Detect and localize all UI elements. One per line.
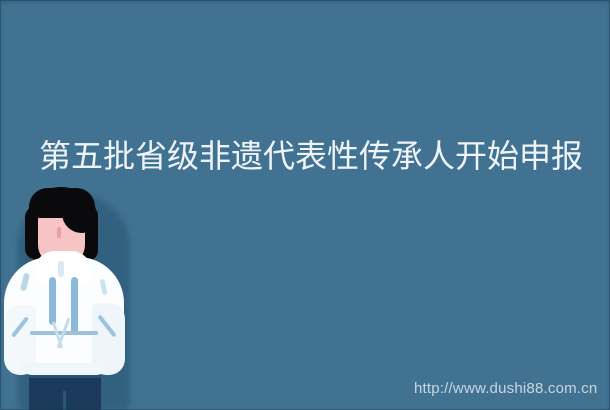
banner-headline: 第五批省级非遗代表性传承人开始申报	[39, 136, 584, 176]
nose-mark	[57, 227, 61, 238]
person-illustration	[0, 185, 145, 410]
article-banner-image: 第五批省级非遗代表性传承人开始申报 http://www.dushi88.com…	[0, 0, 610, 410]
hood-notch	[58, 261, 64, 277]
drawstring-left	[49, 277, 56, 325]
drawstring-right	[71, 277, 78, 335]
pants-waist-highlight	[29, 375, 101, 378]
hoodie-hem	[20, 363, 108, 375]
site-url-watermark: http://www.dushi88.com.cn	[414, 380, 597, 398]
pants-leg-gap	[63, 391, 66, 410]
